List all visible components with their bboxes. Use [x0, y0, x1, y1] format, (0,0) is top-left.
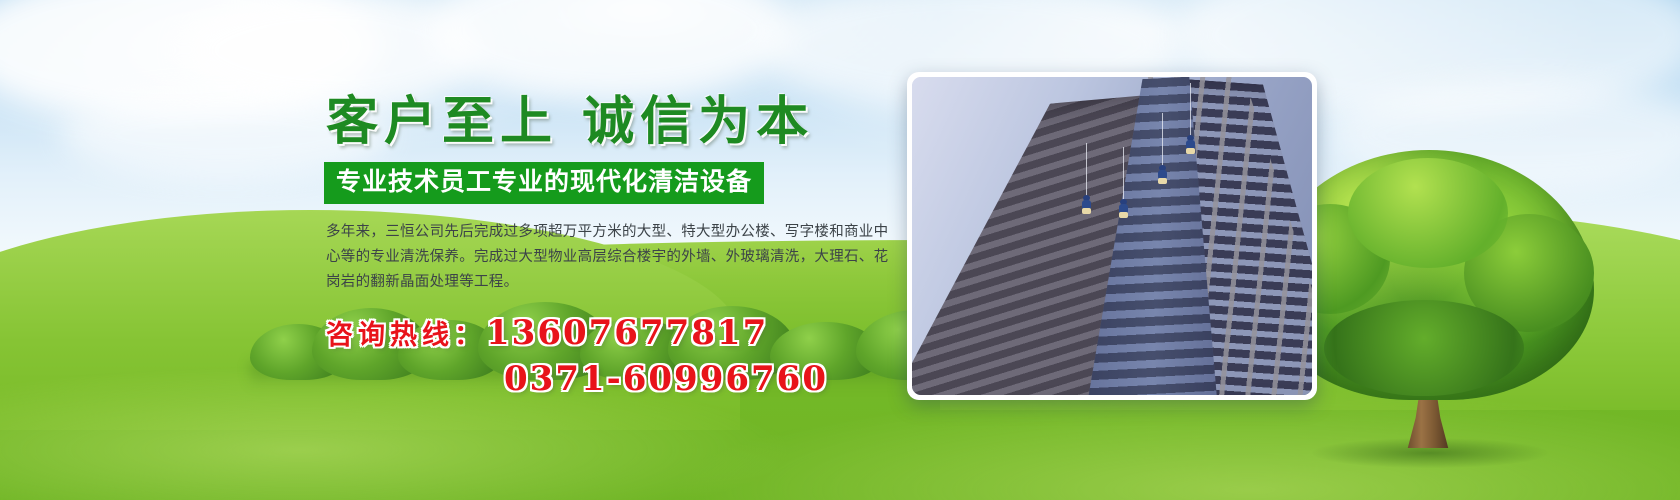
phone-secondary[interactable]: 0371-60996760	[504, 359, 902, 399]
banner-content: 客户至上 诚信为本 专业技术员工专业的现代化清洁设备 多年来，三恒公司先后完成过…	[322, 96, 902, 399]
canopy-lump	[1324, 300, 1524, 396]
building-photo	[912, 77, 1312, 395]
phone-primary[interactable]: 13607677817	[486, 313, 768, 353]
banner-subtitle: 专业技术员工专业的现代化清洁设备	[336, 167, 752, 196]
banner-headline: 客户至上 诚信为本	[326, 96, 902, 148]
building-photo-card	[907, 72, 1317, 400]
banner-subtitle-bar: 专业技术员工专业的现代化清洁设备	[324, 162, 764, 204]
rope-access-worker-icon	[1119, 199, 1128, 221]
canopy-lump	[1348, 158, 1508, 268]
hotline-row: 咨询热线： 13607677817	[326, 313, 902, 353]
cloud-icon	[430, 0, 790, 100]
rope-access-worker-icon	[1082, 195, 1091, 217]
rope-access-worker-icon	[1158, 165, 1167, 187]
rope-access-worker-icon	[1186, 135, 1195, 157]
banner-description: 多年来，三恒公司先后完成过多项超万平方米的大型、特大型办公楼、写字楼和商业中心等…	[326, 220, 894, 295]
promo-banner: 客户至上 诚信为本 专业技术员工专业的现代化清洁设备 多年来，三恒公司先后完成过…	[0, 0, 1680, 500]
hotline-label: 咨询热线：	[326, 313, 486, 352]
